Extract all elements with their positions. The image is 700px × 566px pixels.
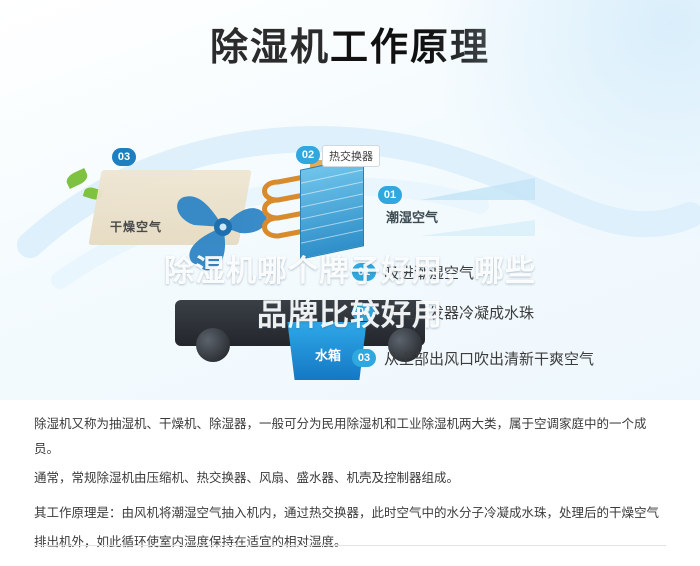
dry-air-label: 干燥空气 xyxy=(110,218,162,235)
article-paragraph-2: 通常，常规除湿机由压缩机、热交换器、风扇、盛水器、机壳及控制器组成。 xyxy=(34,466,666,491)
callout-badge-01: 01 xyxy=(352,263,376,281)
article-paragraph-4: 排出机外，如此循环使室内湿度保持在适宜的相对湿度。 xyxy=(34,530,666,555)
article-body: 除湿机又称为抽湿机、干燥机、除湿器，一般可分为民用除湿机和工业除湿机两大类，属于… xyxy=(34,412,666,559)
callout-text-02: 经过蒸发器冷凝成水珠 xyxy=(384,302,534,323)
bottom-divider xyxy=(34,545,666,546)
heat-exchanger-block xyxy=(300,156,364,260)
heat-exchanger-label: 热交换器 xyxy=(322,145,380,167)
poster-title: 除湿机工作原理 xyxy=(0,28,700,70)
airflow-arrow-inlet xyxy=(360,170,540,260)
poster-root: 除湿机工作原理 干燥空气 03 xyxy=(0,0,700,566)
poster-title-highlight: 除湿机 xyxy=(210,27,330,69)
water-tank-label: 水箱 xyxy=(303,345,353,364)
step-badge-02: 02 xyxy=(296,146,320,164)
article-paragraph-3: 其工作原理是：由风机将潮湿空气抽入机内，通过热交换器，此时空气中的水分子冷凝成水… xyxy=(34,501,666,526)
step-badge-03: 03 xyxy=(112,148,136,166)
wheel-icon xyxy=(196,328,230,362)
poster-title-rest: 工作原理 xyxy=(330,27,490,69)
article-paragraph-1: 除湿机又称为抽湿机、干燥机、除湿器，一般可分为民用除湿机和工业除湿机两大类，属于… xyxy=(34,412,666,462)
callout-badge-03: 03 xyxy=(352,349,376,367)
callout-text-01: 吸进潮湿空气 xyxy=(384,262,474,283)
callout-badge-02: 02 xyxy=(352,303,376,321)
callout-text-03: 从上部出风口吹出清新干爽空气 xyxy=(384,348,594,369)
infographic-panel: 除湿机工作原理 干燥空气 03 xyxy=(0,0,700,400)
